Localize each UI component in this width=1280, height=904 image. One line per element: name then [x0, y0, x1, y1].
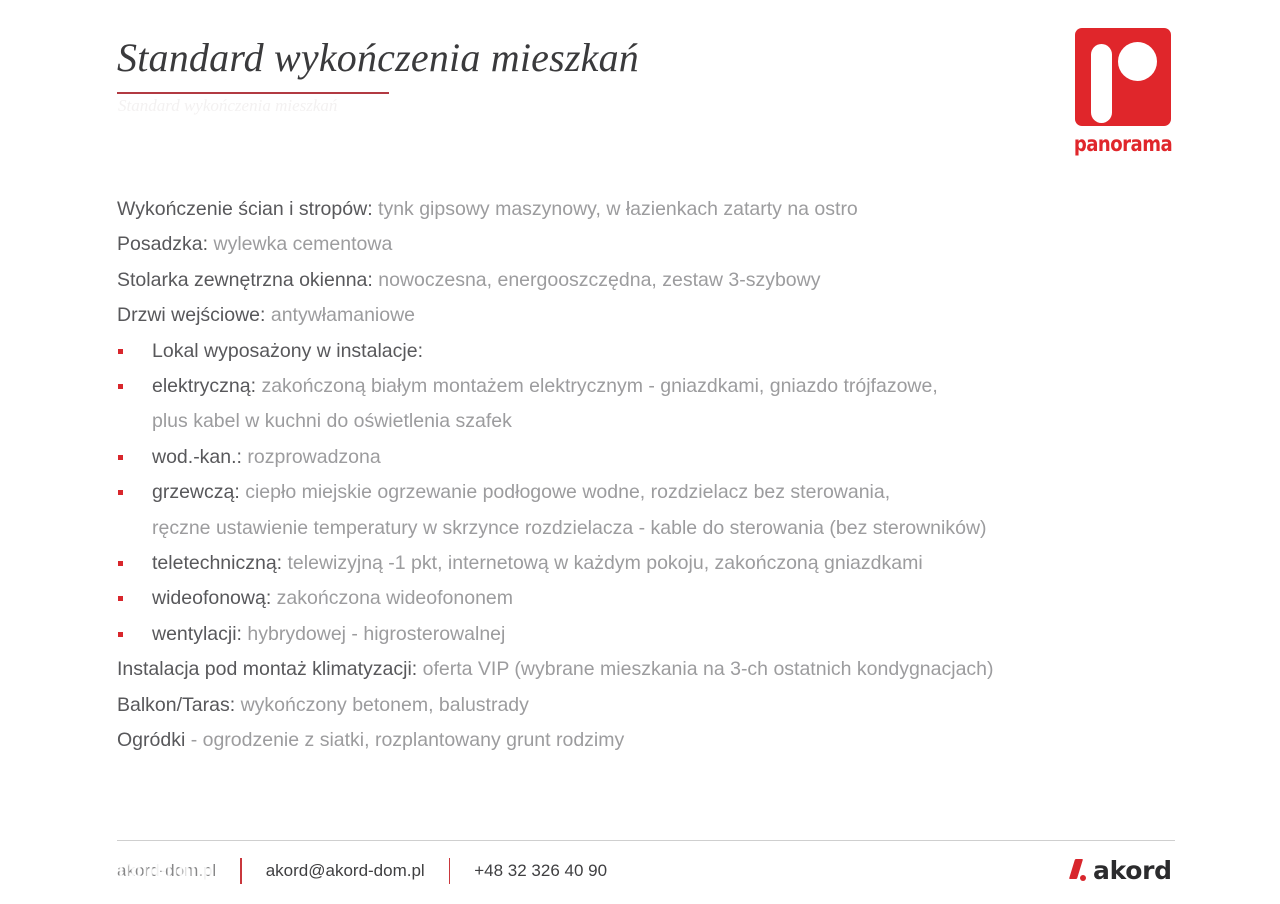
spec-row: Wykończenie ścian i stropów: tynk gipsow… — [117, 192, 1177, 227]
spec-row-bulleted: Lokal wyposażony w instalacje: — [117, 334, 1177, 369]
spec-value: hybrydowej - higrosterowalnej — [242, 623, 505, 645]
bullet-icon — [118, 455, 123, 460]
spec-row-bulleted: wod.-kan.: rozprowadzona — [117, 440, 1177, 475]
spec-row-bulleted: teletechniczną: telewizyjną -1 pkt, inte… — [117, 546, 1177, 581]
title-ghost-artifact: Standard wykończenia mieszkań — [118, 96, 337, 116]
panorama-bar-shape — [1091, 44, 1112, 123]
spec-row-bulleted: wentylacji: hybrydowej - higrosterowalne… — [117, 617, 1177, 652]
spec-row-bulleted: wideofonową: zakończona wideofononem — [117, 581, 1177, 616]
spec-label: Ogródki — [117, 729, 185, 751]
bullet-icon — [118, 561, 123, 566]
bullet-icon — [118, 384, 123, 389]
bullet-icon — [118, 596, 123, 601]
bullet-icon — [118, 632, 123, 637]
panorama-dot-shape — [1118, 42, 1157, 81]
spec-value: wylewka cementowa — [208, 233, 392, 255]
spec-value: tynk gipsowy maszynowy, w łazienkach zat… — [373, 198, 858, 220]
spec-label: grzewczą — [152, 481, 234, 503]
spec-label: Drzwi wejściowe — [117, 304, 260, 326]
footer-website[interactable]: akord-dom.pl — [117, 858, 216, 884]
spec-row: Balkon/Taras: wykończony betonem, balust… — [117, 688, 1177, 723]
spec-separator: : — [418, 340, 423, 362]
spec-label: wentylacji — [152, 623, 237, 645]
bullet-icon — [118, 490, 123, 495]
akord-slash-icon — [1068, 858, 1090, 884]
panorama-mark-icon — [1075, 28, 1171, 126]
spec-label: teletechniczną — [152, 552, 277, 574]
spec-label: Wykończenie ścian i stropów — [117, 198, 367, 220]
spec-value: rozprowadzona — [242, 446, 381, 468]
spec-value: zakończoną białym montażem elektrycznym … — [256, 375, 938, 397]
spec-continuation: plus kabel w kuchni do oświetlenia szafe… — [117, 404, 1177, 439]
page-title: Standard wykończenia mieszkań — [117, 34, 639, 82]
spec-row: Ogródki - ogrodzenie z siatki, rozplanto… — [117, 723, 1177, 758]
bullet-icon — [118, 349, 123, 354]
panorama-logo: panorama — [1062, 28, 1184, 173]
footer-separator — [240, 858, 242, 884]
spec-value: ciepło miejskie ogrzewanie podłogowe wod… — [240, 481, 890, 503]
spec-label: Posadzka — [117, 233, 203, 255]
akord-wordmark: akord — [1093, 858, 1172, 884]
spec-label: Stolarka zewnętrzna okienna — [117, 269, 367, 291]
spec-row-bulleted: elektryczną: zakończoną białym montażem … — [117, 369, 1177, 404]
footer-contact-bar: akord-dom.pl akord@akord-dom.pl +48 32 3… — [117, 858, 607, 884]
spec-value: wykończony betonem, balustrady — [235, 694, 529, 716]
footer-phone[interactable]: +48 32 326 40 90 — [474, 858, 607, 884]
spec-value: telewizyjną -1 pkt, internetową w każdym… — [282, 552, 923, 574]
spec-label: Balkon/Taras — [117, 694, 230, 716]
spec-value: zakończona wideofononem — [271, 587, 513, 609]
spec-label: Instalacja pod montaż klimatyzacji — [117, 658, 412, 680]
spec-row: Stolarka zewnętrzna okienna: nowoczesna,… — [117, 263, 1177, 298]
spec-value: oferta VIP (wybrane mieszkania na 3-ch o… — [417, 658, 993, 680]
spec-label: wod.-kan. — [152, 446, 237, 468]
spec-label: wideofonową — [152, 587, 266, 609]
spec-label: Lokal wyposażony w instalacje — [152, 340, 418, 362]
footer-separator — [449, 858, 451, 884]
panorama-wordmark: panorama — [1071, 132, 1176, 156]
spec-continuation: ręczne ustawienie temperatury w skrzynce… — [117, 511, 1177, 546]
spec-separator: - — [185, 729, 197, 751]
akord-slash-dot — [1080, 875, 1086, 881]
footer-divider — [117, 840, 1175, 841]
title-underline-rule — [117, 92, 389, 94]
akord-logo: akord — [1068, 856, 1172, 886]
spec-value: antywłamaniowe — [265, 304, 415, 326]
spec-row: Posadzka: wylewka cementowa — [117, 227, 1177, 262]
spec-value: nowoczesna, energooszczędna, zestaw 3-sz… — [373, 269, 821, 291]
spec-list: Wykończenie ścian i stropów: tynk gipsow… — [117, 192, 1177, 759]
footer-email[interactable]: akord@akord-dom.pl — [266, 858, 425, 884]
spec-value: ogrodzenie z siatki, rozplantowany grunt… — [197, 729, 624, 751]
spec-row: Instalacja pod montaż klimatyzacji: ofer… — [117, 652, 1177, 687]
spec-label: elektryczną — [152, 375, 251, 397]
spec-row-bulleted: grzewczą: ciepło miejskie ogrzewanie pod… — [117, 475, 1177, 510]
spec-row: Drzwi wejściowe: antywłamaniowe — [117, 298, 1177, 333]
